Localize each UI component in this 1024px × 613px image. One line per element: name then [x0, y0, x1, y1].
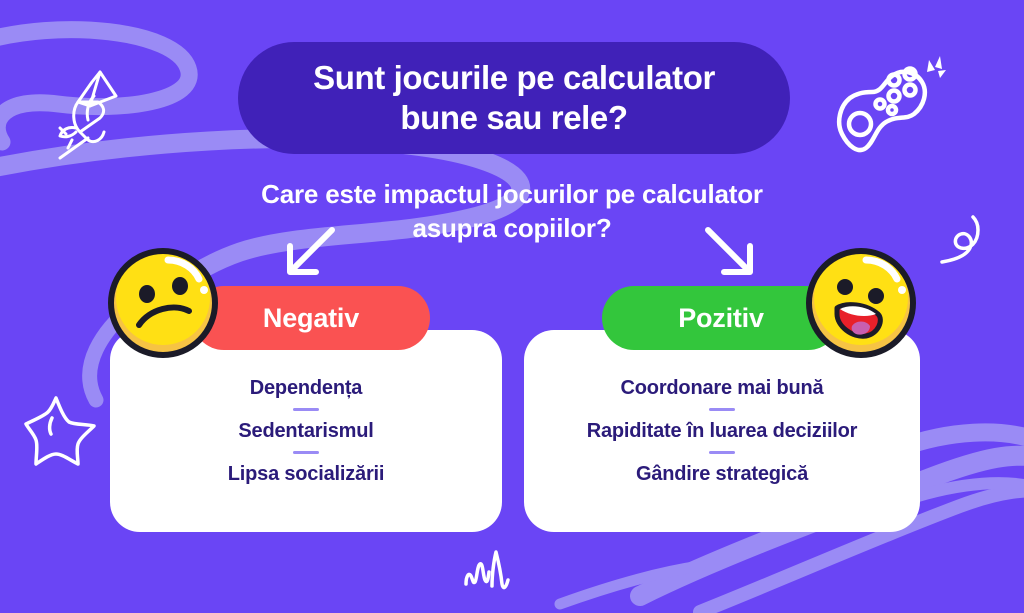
subtitle-line-2: asupra copiilor?: [162, 212, 862, 246]
subtitle: Care este impactul jocurilor pe calculat…: [162, 178, 862, 246]
star-icon: [24, 392, 100, 466]
card-positive-item-1: Coordonare mai bună: [621, 377, 824, 399]
item-separator: [293, 408, 319, 411]
zigzag-scribble-icon: [462, 542, 518, 598]
title-line-1: Sunt jocurile pe calculator: [313, 58, 715, 98]
card-negative-item-3: Lipsa socializării: [228, 463, 384, 485]
happy-face-emoji: [804, 246, 918, 360]
card-negative-header-label: Negativ: [263, 303, 359, 334]
card-positive-header-label: Pozitiv: [678, 303, 764, 334]
item-separator: [709, 451, 735, 454]
subtitle-line-1: Care este impactul jocurilor pe calculat…: [162, 178, 862, 212]
sad-face-emoji: [106, 246, 220, 360]
card-negative-item-1: Dependența: [250, 377, 362, 399]
item-separator: [293, 451, 319, 454]
card-negative-header: Negativ: [192, 286, 430, 350]
card-positive-item-2: Rapiditate în luarea deciziilor: [587, 420, 858, 442]
game-controller-icon: [832, 48, 972, 168]
title-pill: Sunt jocurile pe calculator bune sau rel…: [238, 42, 790, 154]
card-negative-item-2: Sedentarismul: [238, 420, 373, 442]
curl-scribble-icon: [940, 212, 994, 268]
card-positive-body: Coordonare mai bună Rapiditate în luarea…: [524, 330, 920, 532]
item-separator: [709, 408, 735, 411]
rocket-firework-icon: [54, 62, 146, 162]
title-line-2: bune sau rele?: [400, 98, 627, 138]
infographic-canvas: Sunt jocurile pe calculator bune sau rel…: [0, 0, 1024, 613]
card-negative-body: Dependența Sedentarismul Lipsa socializă…: [110, 330, 502, 532]
card-positive-item-3: Gândire strategică: [636, 463, 808, 485]
